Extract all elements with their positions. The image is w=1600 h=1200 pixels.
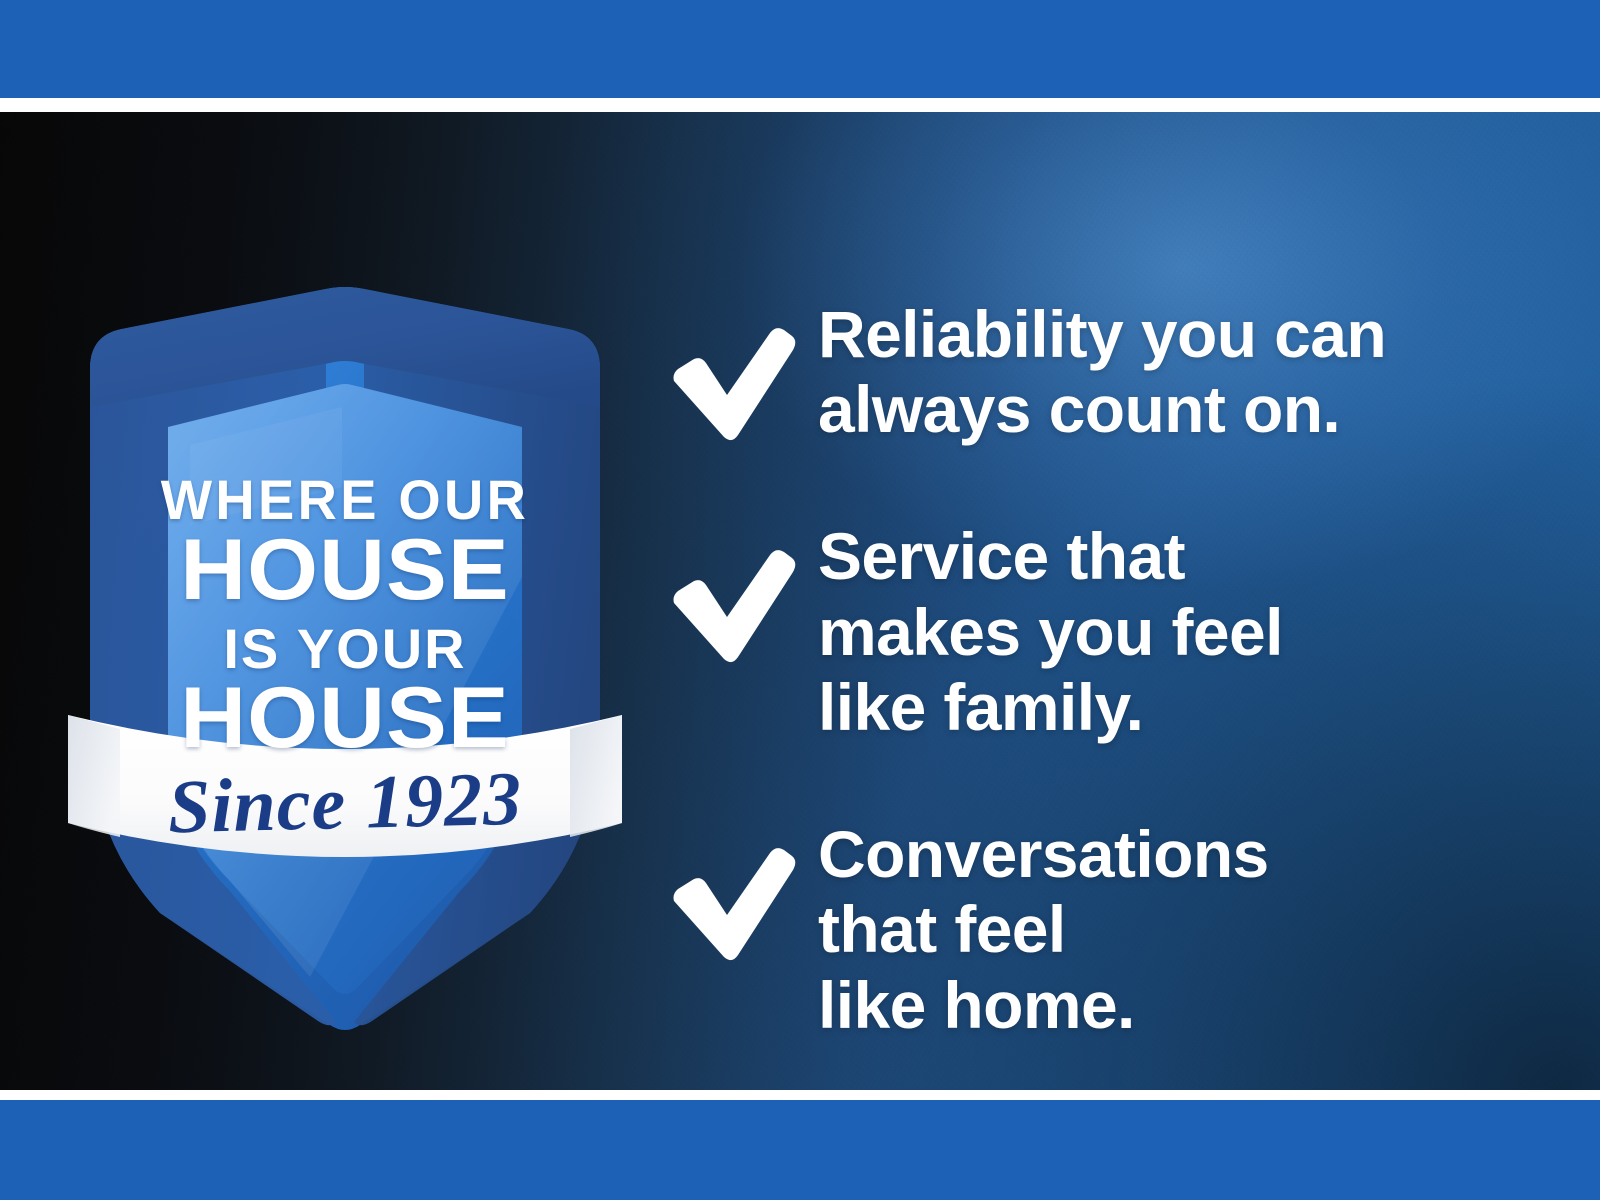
bottom-white-rule: [0, 1090, 1600, 1100]
check-icon: [668, 325, 796, 445]
benefits-list: Reliability you can always count on. Ser…: [668, 297, 1548, 1043]
check-icon: [668, 547, 796, 667]
bottom-brand-bar: [0, 1100, 1600, 1200]
list-item-label: Conversations that feel like home.: [818, 817, 1269, 1043]
badge-line-3: IS YOUR: [60, 621, 630, 677]
list-item: Conversations that feel like home.: [668, 817, 1548, 1043]
content-panel: WHERE OUR HOUSE IS YOUR HOUSE Since 1923…: [0, 112, 1600, 1090]
top-white-rule: [0, 98, 1600, 112]
badge-line-4: HOUSE: [43, 675, 647, 761]
badge-line-2: HOUSE: [43, 527, 647, 613]
promo-graphic: WHERE OUR HOUSE IS YOUR HOUSE Since 1923…: [0, 0, 1600, 1200]
badge-since-text: Since 1923: [59, 758, 631, 848]
shield-badge: WHERE OUR HOUSE IS YOUR HOUSE Since 1923: [60, 277, 630, 1047]
list-item: Reliability you can always count on.: [668, 297, 1548, 447]
list-item-label: Service that makes you feel like family.: [818, 519, 1283, 745]
list-item: Service that makes you feel like family.: [668, 519, 1548, 745]
list-item-label: Reliability you can always count on.: [818, 297, 1386, 447]
top-brand-bar: [0, 0, 1600, 98]
badge-line-1: WHERE OUR: [69, 472, 622, 528]
check-icon: [668, 845, 796, 965]
